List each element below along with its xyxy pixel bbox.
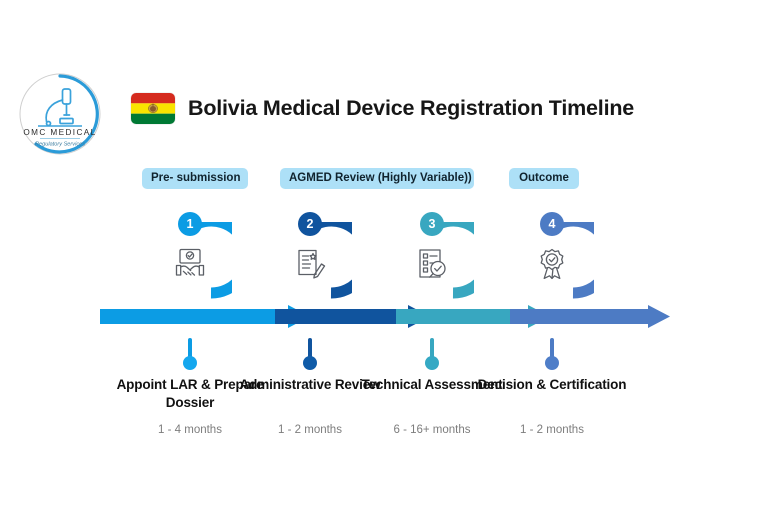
phase-pill-agmed-review: AGMED Review (Highly Variable)) [280, 168, 474, 189]
header: OMC MEDICAL Regulatory Services Bolivia … [0, 0, 770, 170]
step-number-badge-3: 3 [420, 212, 444, 236]
logo-badge-icon: OMC MEDICAL Regulatory Services [18, 72, 102, 156]
step-ring-2: 2 [268, 212, 352, 306]
handshake-agreement-icon [168, 242, 212, 286]
step-ring-4: 4 [510, 212, 594, 306]
logo-primary-text: OMC MEDICAL [23, 128, 96, 137]
phase-pill-row: Pre- submission AGMED Review (Highly Var… [0, 168, 770, 190]
step-dot-4 [545, 356, 559, 370]
step-number-badge-4: 4 [540, 212, 564, 236]
step-number-badge-1: 1 [178, 212, 202, 236]
page-title: Bolivia Medical Device Registration Time… [188, 96, 634, 121]
phase-pill-pre-submission: Pre- submission [142, 168, 248, 189]
award-ribbon-check-icon [530, 242, 574, 286]
step-dot-1 [183, 356, 197, 370]
title-row: Bolivia Medical Device Registration Time… [131, 93, 634, 124]
logo-secondary-text: Regulatory Services [35, 142, 85, 148]
step-dot-3 [425, 356, 439, 370]
step-duration-4: 1 - 2 months [470, 424, 634, 436]
checklist-magnifier-icon [410, 242, 454, 286]
step-ring-3: 3 [390, 212, 474, 306]
timeline-step-4[interactable]: 4 Decision & Certification 1 - 2 months [478, 200, 626, 514]
omc-medical-logo: OMC MEDICAL Regulatory Services [18, 72, 102, 156]
bolivia-flag-icon [131, 93, 175, 124]
step-dot-2 [303, 356, 317, 370]
phase-pill-outcome: Outcome [509, 168, 579, 189]
timeline: 1 Appoint LAR & Prepare Dossier 1 - 4 mo… [0, 200, 770, 514]
step-ring-1: 1 [148, 212, 232, 306]
step-number-badge-2: 2 [298, 212, 322, 236]
step-label-4: Decision & Certification [470, 376, 634, 394]
document-pen-icon [288, 242, 332, 286]
